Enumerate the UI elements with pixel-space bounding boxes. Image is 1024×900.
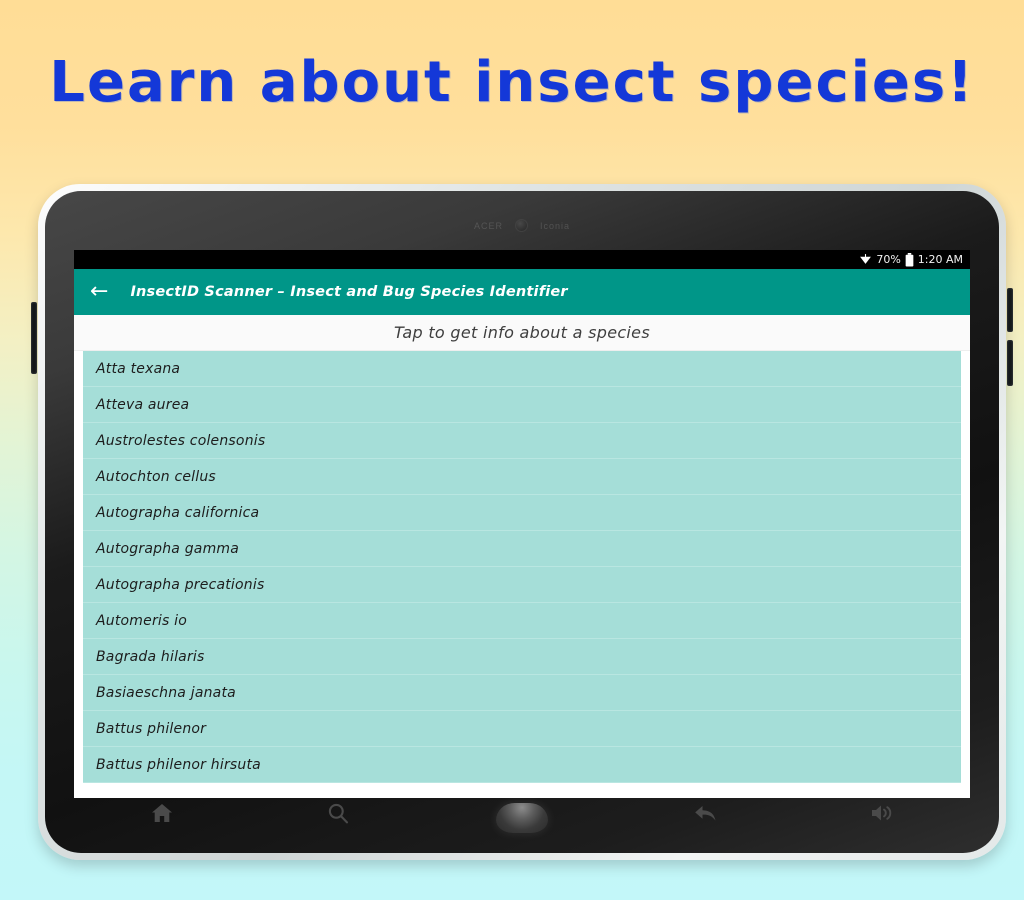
species-list-item[interactable]: Bagrada hilaris [83,639,961,675]
species-list-item[interactable]: Autographa californica [83,495,961,531]
device-volume-down-button[interactable] [1007,340,1013,386]
center-home-dome [496,803,548,833]
species-name: Bagrada hilaris [96,649,205,665]
tablet-device-frame: ACER Iconia 70% [38,184,1006,860]
species-name: Autographa californica [96,505,259,521]
android-status-bar: 70% 1:20 AM [74,250,970,269]
species-name: Battus philenor [96,721,206,737]
species-list-item[interactable]: Atteva aurea [83,387,961,423]
battery-icon [905,253,914,267]
search-icon[interactable] [318,793,358,833]
species-name: Basiaeschna janata [96,685,236,701]
species-name: Autographa precationis [96,577,264,593]
species-list-item[interactable]: Autographa precationis [83,567,961,603]
device-volume-up-button[interactable] [1007,288,1013,332]
center-home-button[interactable] [494,793,550,833]
back-arrow-icon[interactable] [686,793,726,833]
species-list-item[interactable]: Autochton cellus [83,459,961,495]
tablet-bezel: ACER Iconia 70% [45,191,999,853]
species-name: Atteva aurea [96,397,189,413]
device-branding: ACER Iconia [45,219,999,232]
species-list-item[interactable]: Automeris io [83,603,961,639]
list-instruction-bar: Tap to get info about a species [74,315,970,351]
android-navigation-bar [74,787,970,839]
species-list[interactable]: Atta texanaAtteva aureaAustrolestes cole… [74,351,970,798]
wifi-icon [859,253,872,266]
species-name: Autographa gamma [96,541,239,557]
device-side-button-left[interactable] [31,302,37,374]
species-list-item[interactable]: Autographa gamma [83,531,961,567]
species-name: Austrolestes colensonis [96,433,265,449]
species-list-item[interactable]: Atta texana [83,351,961,387]
species-name: Automeris io [96,613,187,629]
species-list-item[interactable]: Austrolestes colensonis [83,423,961,459]
promo-screenshot: Learn about insect species! ACER Iconia [0,0,1024,900]
app-title: InsectID Scanner – Insect and Bug Specie… [130,284,567,300]
home-icon[interactable] [142,793,182,833]
battery-percent-label: 70% [876,253,900,266]
promo-headline: Learn about insect species! [0,50,1024,115]
species-list-item[interactable]: Basiaeschna janata [83,675,961,711]
device-brand-left: ACER [474,221,503,231]
device-screen: 70% 1:20 AM ← InsectID Scanner – Insect … [74,250,970,798]
back-navigation-icon[interactable]: ← [90,281,108,303]
species-list-item[interactable]: Battus philenor [83,711,961,747]
species-name: Autochton cellus [96,469,216,485]
volume-icon[interactable] [862,793,902,833]
device-brand-right: Iconia [540,221,570,231]
app-bar: ← InsectID Scanner – Insect and Bug Spec… [74,269,970,315]
species-list-item[interactable]: Battus philenor hirsuta [83,747,961,783]
camera-icon [515,219,528,232]
species-name: Battus philenor hirsuta [96,757,261,773]
list-instruction-text: Tap to get info about a species [394,323,650,342]
status-bar-clock: 1:20 AM [918,253,963,266]
species-name: Atta texana [96,361,180,377]
